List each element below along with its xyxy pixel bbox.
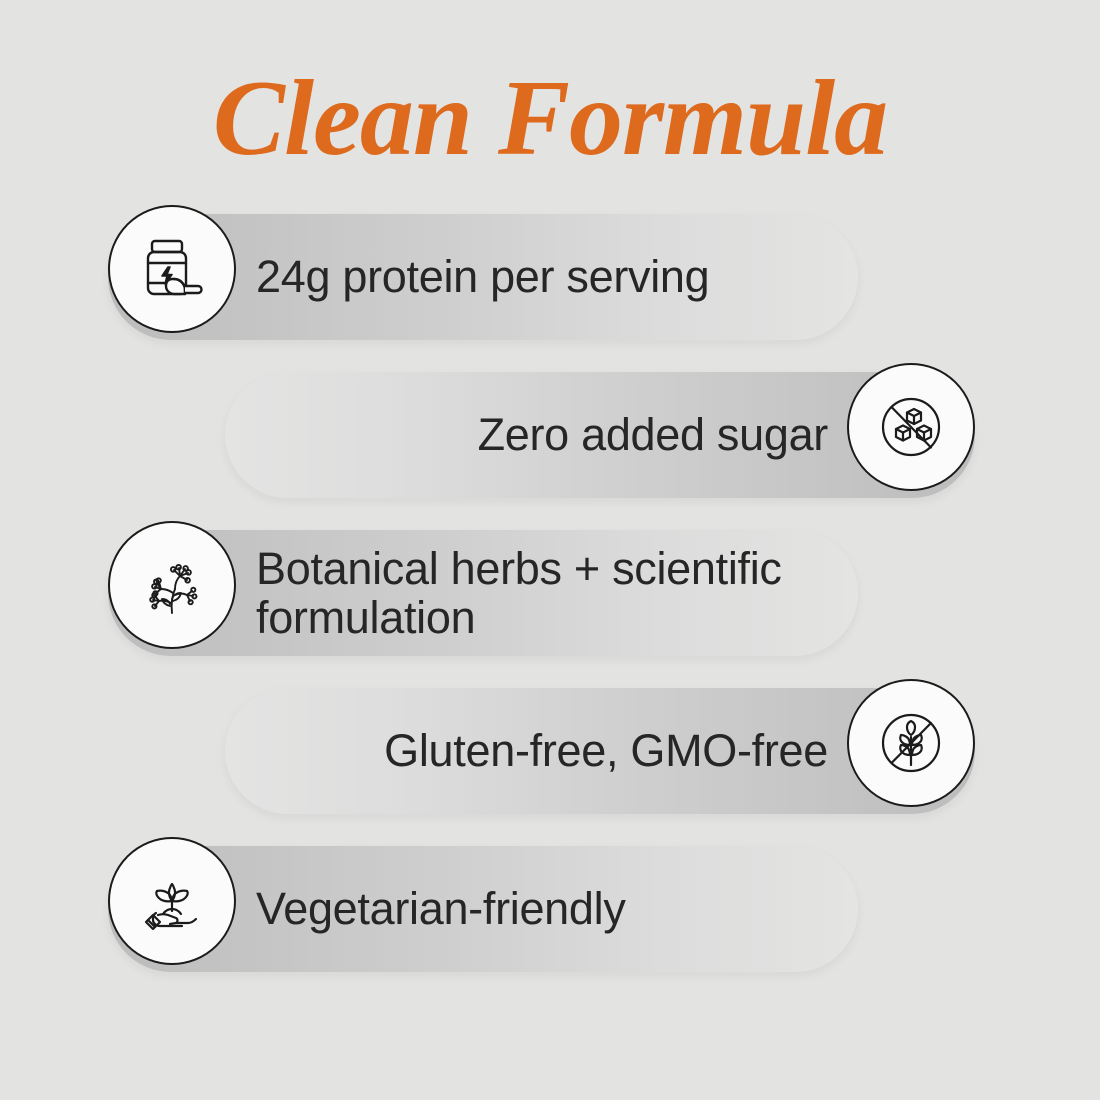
feature-label: 24g protein per serving xyxy=(256,205,920,349)
feature-row-sugar: Zero added sugar xyxy=(0,363,1100,507)
hand-holding-sprout-icon xyxy=(108,837,236,965)
feature-list: 24g protein per serving xyxy=(0,205,1100,995)
feature-label: Zero added sugar xyxy=(220,363,828,507)
feature-label: Gluten-free, GMO-free xyxy=(220,679,828,823)
clean-formula-poster: Clean Formula xyxy=(0,0,1100,1100)
feature-row-botanical: Botanical herbs + scientific formulation xyxy=(0,521,1100,665)
feature-row-vegetarian: Vegetarian-friendly xyxy=(0,837,1100,981)
page-title: Clean Formula xyxy=(0,62,1100,175)
feature-row-protein: 24g protein per serving xyxy=(0,205,1100,349)
feature-label: Vegetarian-friendly xyxy=(256,837,920,981)
no-wheat-icon xyxy=(847,679,975,807)
botanical-herb-sprig-icon xyxy=(108,521,236,649)
no-sugar-cubes-icon xyxy=(847,363,975,491)
protein-tub-scoop-icon xyxy=(108,205,236,333)
feature-row-gluten: Gluten-free, GMO-free xyxy=(0,679,1100,823)
feature-label: Botanical herbs + scientific formulation xyxy=(256,521,920,665)
